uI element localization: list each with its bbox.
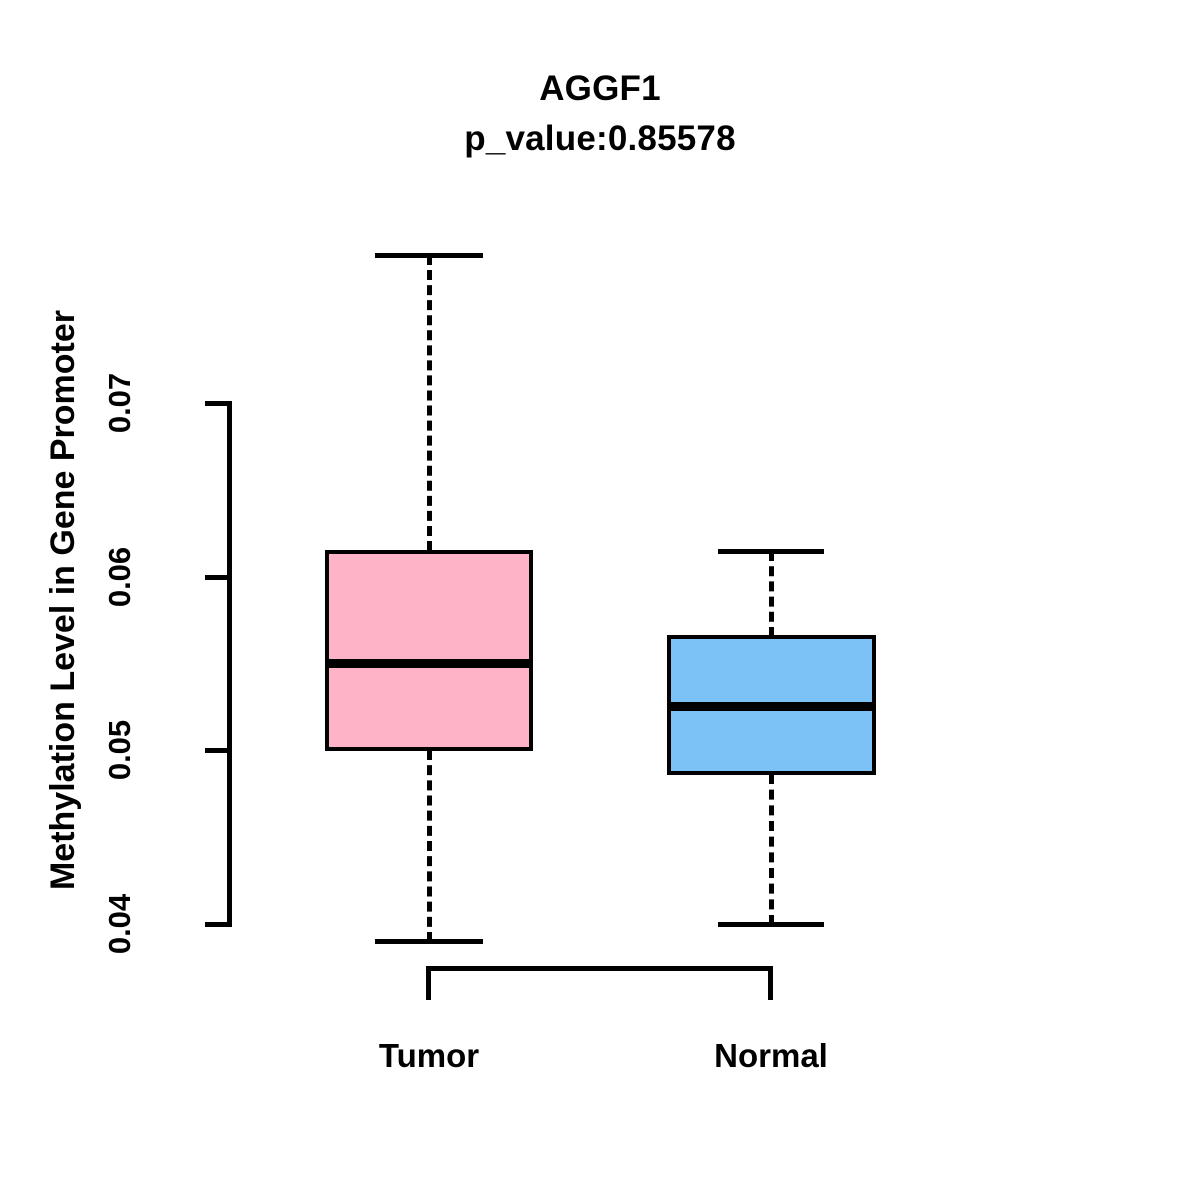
y-axis-title: Methylation Level in Gene Promoter: [42, 0, 84, 1200]
whisker-lower-tumor: [427, 750, 432, 942]
x-axis-label-normal: Normal: [621, 1036, 921, 1076]
x-axis-tick-tumor: [426, 966, 431, 1000]
x-axis-label-tumor: Tumor: [279, 1036, 579, 1076]
y-axis-tick-label-2: 0.06: [105, 517, 135, 637]
y-axis-tick-label-3: 0.07: [105, 343, 135, 463]
y-axis-tick-0: [205, 922, 232, 927]
boxplot-canvas: AGGF1 p_value:0.85578 Methylation Level …: [0, 0, 1200, 1200]
y-axis-tick-label-1: 0.05: [105, 690, 135, 810]
y-axis-tick-3: [205, 401, 232, 406]
box-tumor[interactable]: [325, 550, 533, 751]
y-axis-tick-label-0: 0.04: [105, 864, 135, 984]
y-axis-line: [227, 401, 232, 926]
whisker-lower-normal: [769, 774, 774, 925]
whisker-cap-lower-normal: [718, 922, 824, 927]
median-line-normal: [667, 702, 876, 711]
y-axis-tick-1: [205, 748, 232, 753]
whisker-cap-lower-tumor: [375, 939, 483, 944]
whisker-cap-upper-tumor: [375, 253, 483, 258]
page-title: AGGF1: [0, 69, 1200, 109]
p-value-subtitle: p_value:0.85578: [0, 119, 1200, 159]
y-axis-tick-2: [205, 575, 232, 580]
whisker-upper-normal: [769, 551, 774, 637]
median-line-tumor: [325, 659, 533, 668]
x-axis-line: [426, 966, 773, 971]
x-axis-tick-normal: [768, 966, 773, 1000]
whisker-upper-tumor: [427, 255, 432, 551]
whisker-cap-upper-normal: [718, 549, 824, 554]
